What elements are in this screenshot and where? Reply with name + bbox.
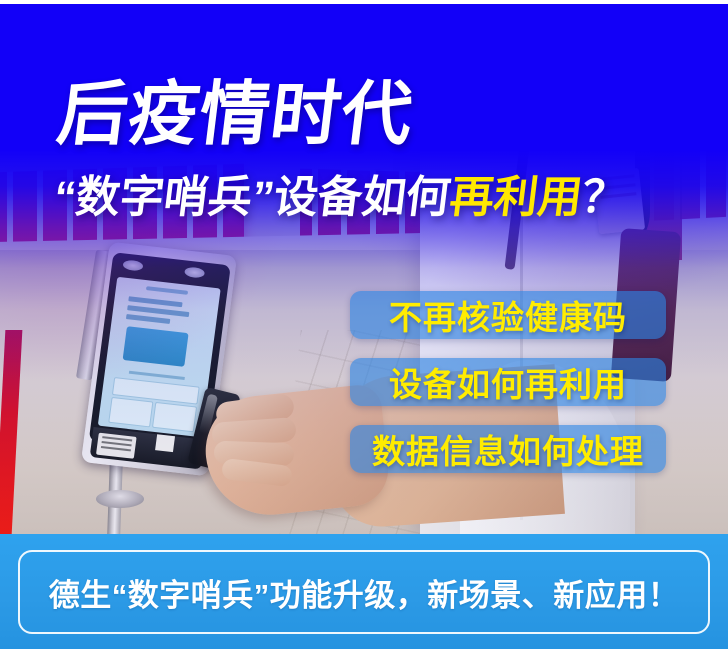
poster-root: 后疫情时代 “数字哨兵”设备如何再利用？ 不再核验健康码 设备如何再利用 数据信… [0, 0, 728, 649]
badge-item-3[interactable]: 数据信息如何处理 [350, 425, 666, 473]
badge-list: 不再核验健康码 设备如何再利用 数据信息如何处理 [350, 291, 668, 492]
top-white-band [0, 0, 728, 4]
subtitle-highlight: 再利用 [447, 173, 585, 222]
page-subtitle: “数字哨兵”设备如何再利用？ [51, 172, 629, 224]
badge-item-2[interactable]: 设备如何再利用 [350, 358, 666, 406]
badge-label: 数据信息如何处理 [350, 425, 666, 473]
badge-label: 不再核验健康码 [350, 291, 666, 339]
subtitle-suffix: ？ [579, 173, 629, 222]
badge-label: 设备如何再利用 [350, 358, 666, 406]
subtitle-prefix: “数字哨兵”设备如何 [51, 173, 453, 222]
page-title: 后疫情时代 [53, 76, 417, 152]
bottom-banner-text: 德生“数字哨兵”功能升级，新场景、新应用！ [18, 550, 710, 634]
badge-item-1[interactable]: 不再核验健康码 [350, 291, 666, 339]
